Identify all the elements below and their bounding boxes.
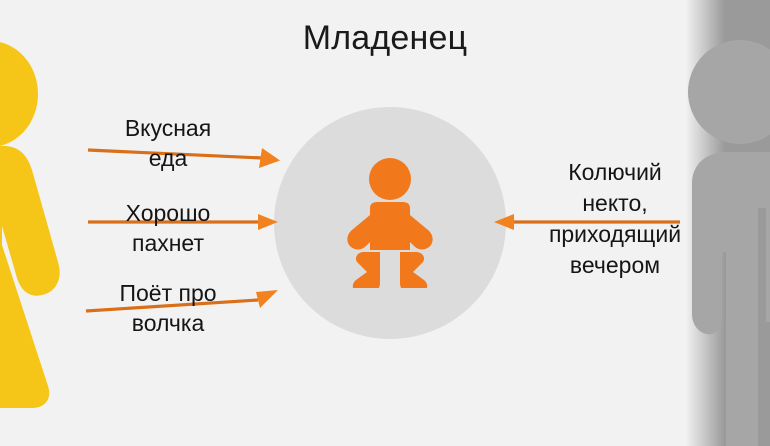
page-title: Младенец [0, 16, 770, 60]
label-stranger: Колючий некто, приходящий вечером [520, 157, 710, 281]
label-smell: Хорошо пахнет [78, 198, 258, 258]
baby-icon [340, 158, 440, 288]
slide-canvas: Младенец [0, 0, 770, 446]
label-song: Поёт про волчка [78, 278, 258, 338]
label-food: Вкусная еда [78, 113, 258, 173]
